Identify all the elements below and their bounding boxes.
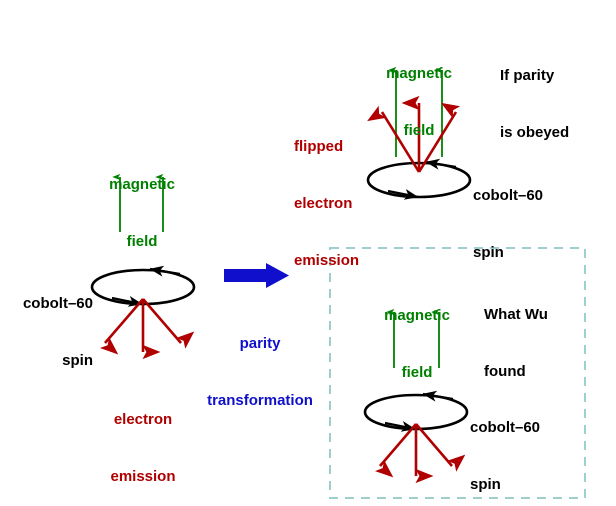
topright-flipped-emission-label-line1: flipped (294, 137, 404, 156)
left-electron-emission-label-line2: emission (93, 467, 193, 486)
bottomright-magnetic-field-label-line1: magnetic (367, 306, 467, 325)
if-parity-obeyed-caption: If parity is obeyed (500, 28, 616, 180)
parity-transformation-label: parity transformation (190, 296, 330, 448)
if-parity-obeyed-caption-line2: is obeyed (500, 123, 616, 142)
if-parity-obeyed-caption-line1: If parity (500, 66, 616, 85)
what-wu-found-caption: What Wu found (484, 267, 594, 419)
what-wu-found-caption-line2: found (484, 362, 594, 381)
parity-transformation-label-line2: transformation (190, 391, 330, 410)
bottomright-spin-label-line1: cobolt–60 (470, 418, 580, 437)
left-spin-label-line2: spin (0, 351, 93, 370)
left-magnetic-field-label-line1: magnetic (92, 175, 192, 194)
bottomright-magnetic-field-label: magnetic field (367, 268, 467, 420)
left-spin-label-line1: cobolt–60 (0, 294, 93, 313)
topright-magnetic-field-label-line1: magnetic (369, 64, 469, 83)
left-electron-emission-label: electron emission (93, 372, 193, 506)
bottomright-spin-label-line2: spin (470, 475, 580, 494)
left-spin-label: cobolt–60 spin (0, 256, 93, 408)
topright-spin-label-line2: spin (473, 243, 583, 262)
topright-flipped-emission-label-line2: electron (294, 194, 404, 213)
topright-spin-label-line1: cobolt–60 (473, 186, 583, 205)
what-wu-found-caption-line1: What Wu (484, 305, 594, 324)
physics-diagram-canvas: magnetic field cobolt–60 spin electron e… (0, 0, 616, 506)
bottomright-magnetic-field-label-line2: field (367, 363, 467, 382)
left-magnetic-field-label: magnetic field (92, 137, 192, 289)
bottomright-electron-emission-arrows (380, 424, 452, 476)
parity-transformation-label-line1: parity (190, 334, 330, 353)
left-electron-emission-label-line1: electron (93, 410, 193, 429)
left-magnetic-field-label-line2: field (92, 232, 192, 251)
parity-transformation-arrow (224, 263, 289, 288)
left-electron-emission-arrows (105, 299, 181, 352)
